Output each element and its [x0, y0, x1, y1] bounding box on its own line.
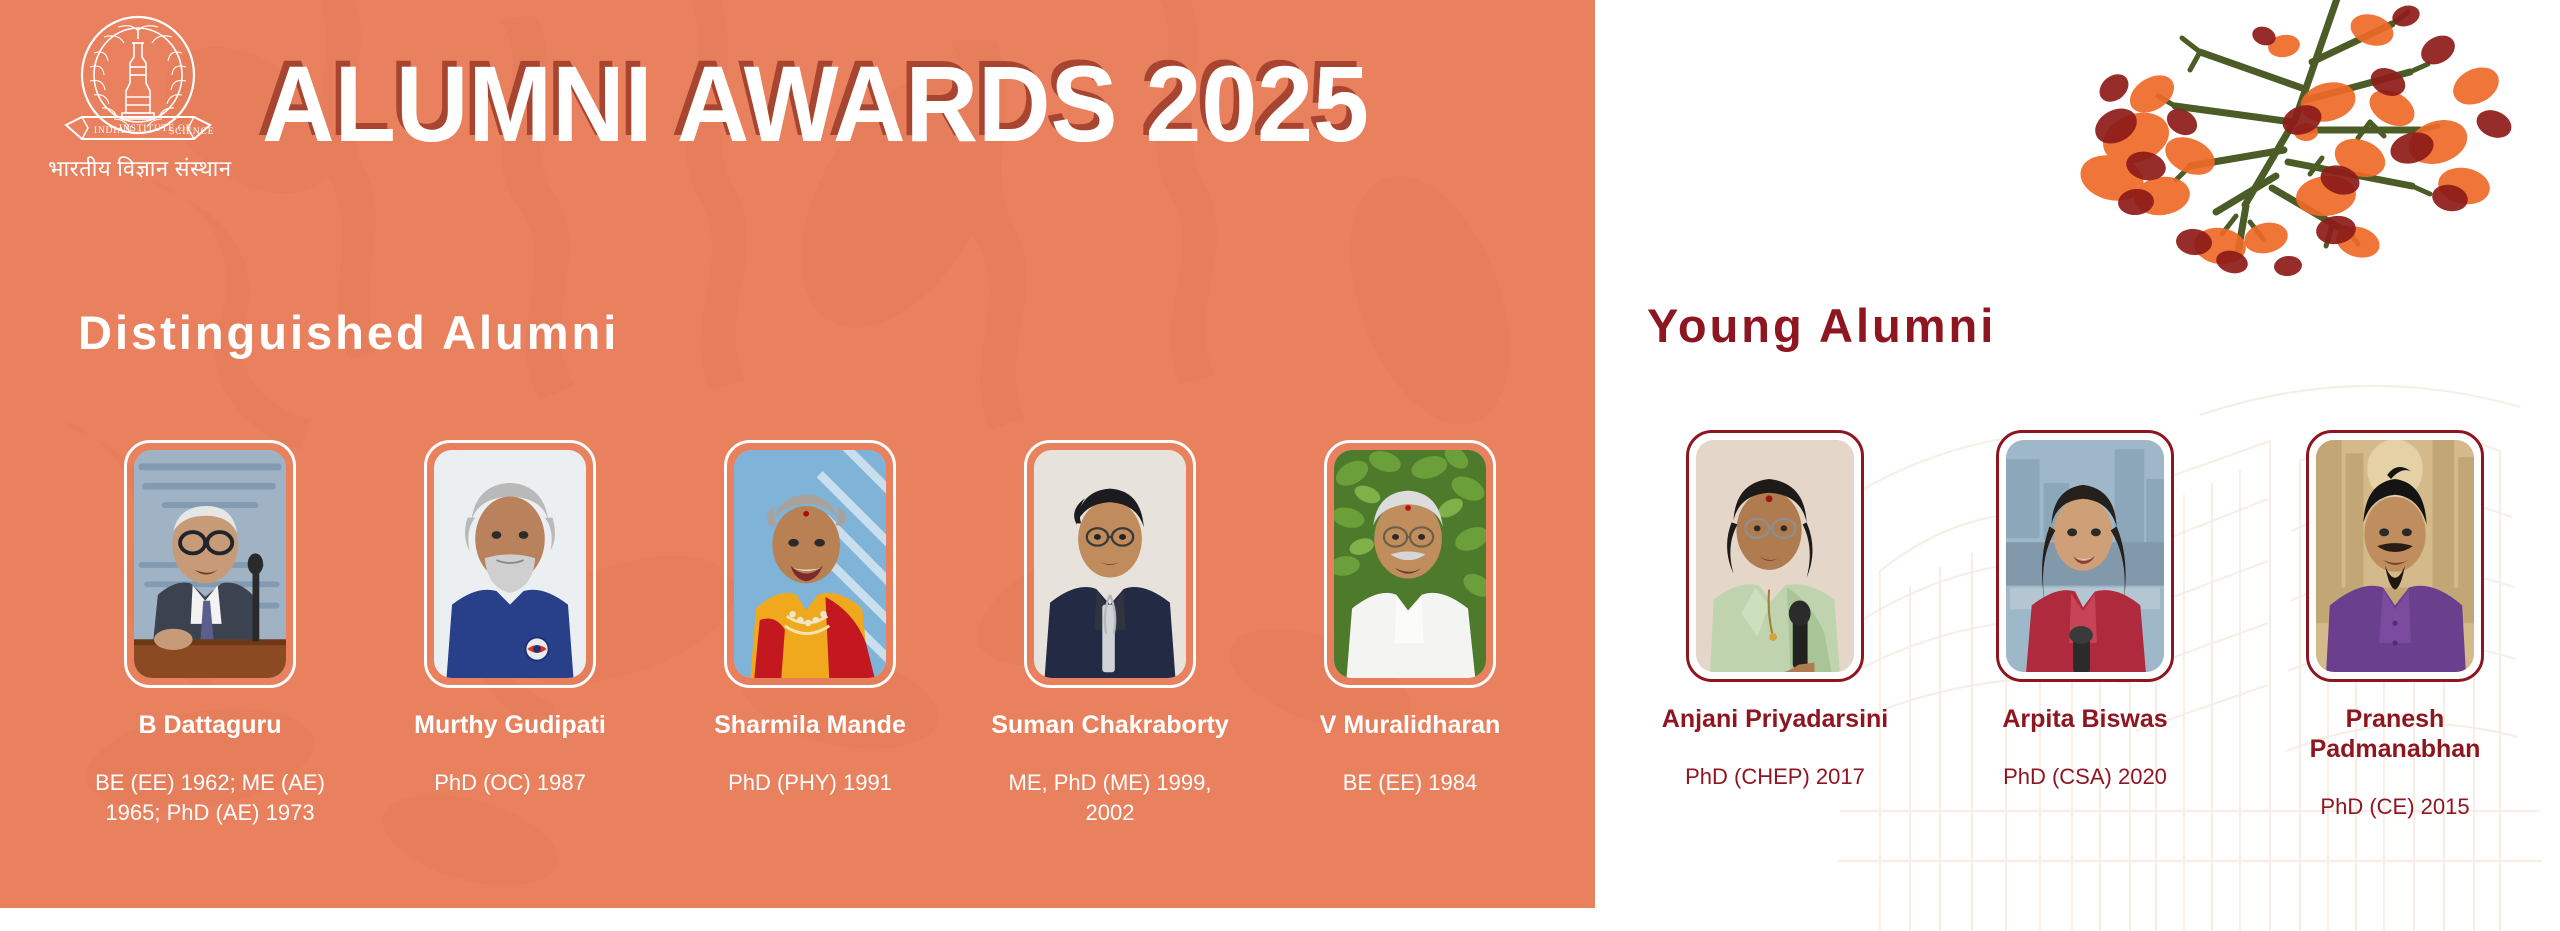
photo-b-dattaguru: [134, 450, 286, 678]
person-degree: PhD (CSA) 2020: [1958, 762, 2213, 792]
person-degree: PhD (PHY) 1991: [683, 768, 938, 798]
young-alumni-panel: Young Alumni: [1595, 0, 2560, 931]
photo-sharmila-mande: [734, 450, 886, 678]
person-name: Suman Chakraborty: [985, 710, 1235, 740]
list-item: Suman Chakraborty ME, PhD (ME) 1999, 200…: [960, 440, 1260, 827]
person-degree: PhD (CHEP) 2017: [1648, 762, 1903, 792]
photo-frame: [1024, 440, 1196, 688]
logo-ribbon-right: SCIENCE: [169, 127, 214, 137]
young-alumni-list: Anjani Priyadarsini PhD (CHEP) 2017: [1620, 430, 2550, 822]
person-degree: PhD (OC) 1987: [383, 768, 638, 798]
photo-frame: [1996, 430, 2174, 682]
person-name: Sharmila Mande: [685, 710, 935, 740]
photo-frame: [1686, 430, 1864, 682]
person-name: Murthy Gudipati: [385, 710, 635, 740]
iisc-logo: INDIAN INSTITUTE OF SCIENCE भारतीय विज्ञ…: [48, 13, 228, 188]
list-item: Pranesh Padmanabhan PhD (CE) 2015: [2240, 430, 2550, 822]
photo-frame: [724, 440, 896, 688]
photo-anjani-priyadarsini: [1696, 440, 1854, 672]
distinguished-alumni-panel: INDIAN INSTITUTE OF SCIENCE भारतीय विज्ञ…: [0, 0, 1595, 908]
distinguished-alumni-heading: Distinguished Alumni: [78, 305, 619, 360]
photo-v-muralidharan: [1334, 450, 1486, 678]
banner-header: INDIAN INSTITUTE OF SCIENCE भारतीय विज्ञ…: [0, 0, 1595, 200]
person-name: B Dattaguru: [85, 710, 335, 740]
person-name: V Muralidharan: [1285, 710, 1535, 740]
photo-frame: [124, 440, 296, 688]
page-title: ALUMNI AWARDS 2025: [262, 42, 1369, 158]
logo-devanagari-text: भारतीय विज्ञान संस्थान: [48, 153, 228, 183]
photo-frame: [1324, 440, 1496, 688]
person-name: Anjani Priyadarsini: [1650, 704, 1900, 734]
photo-pranesh-padmanabhan: [2316, 440, 2474, 672]
flowering-branch-illustration: [2040, 0, 2540, 290]
young-alumni-heading: Young Alumni: [1647, 298, 1996, 353]
person-degree: BE (EE) 1984: [1283, 768, 1538, 798]
person-name: Pranesh Padmanabhan: [2270, 704, 2520, 764]
list-item: B Dattaguru BE (EE) 1962; ME (AE) 1965; …: [60, 440, 360, 827]
person-degree: PhD (CE) 2015: [2268, 792, 2523, 822]
photo-frame: [424, 440, 596, 688]
person-name: Arpita Biswas: [1960, 704, 2210, 734]
person-degree: ME, PhD (ME) 1999, 2002: [983, 768, 1238, 827]
distinguished-alumni-list: B Dattaguru BE (EE) 1962; ME (AE) 1965; …: [60, 440, 1580, 827]
person-degree: BE (EE) 1962; ME (AE) 1965; PhD (AE) 197…: [83, 768, 338, 827]
alumni-awards-banner: INDIAN INSTITUTE OF SCIENCE भारतीय विज्ञ…: [0, 0, 2560, 931]
photo-suman-chakraborty: [1034, 450, 1186, 678]
list-item: Sharmila Mande PhD (PHY) 1991: [660, 440, 960, 827]
list-item: V Muralidharan BE (EE) 1984: [1260, 440, 1560, 827]
photo-frame: [2306, 430, 2484, 682]
list-item: Murthy Gudipati PhD (OC) 1987: [360, 440, 660, 827]
list-item: Arpita Biswas PhD (CSA) 2020: [1930, 430, 2240, 822]
photo-arpita-biswas: [2006, 440, 2164, 672]
list-item: Anjani Priyadarsini PhD (CHEP) 2017: [1620, 430, 1930, 822]
photo-murthy-gudipati: [434, 450, 586, 678]
